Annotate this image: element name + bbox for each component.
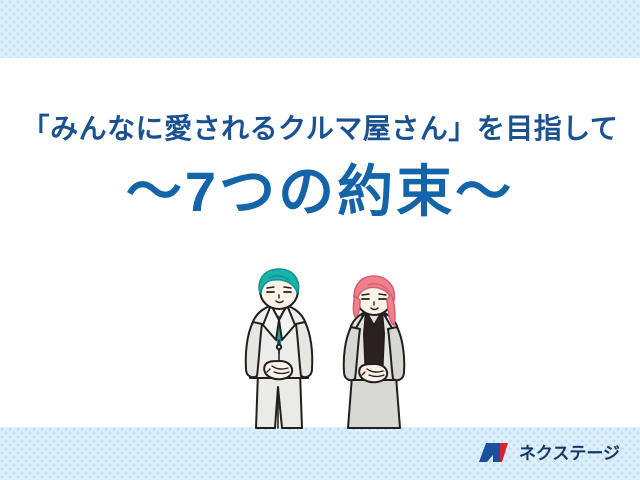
headline-primary: 「みんなに愛されるクルマ屋さん」を目指して [0, 112, 640, 146]
nextage-wordmark: ネクステージ [519, 445, 620, 462]
nextage-n-mark [478, 441, 512, 465]
bowing-staff-illustration [236, 268, 426, 430]
promo-banner: 「みんなに愛されるクルマ屋さん」を目指して ～7つの約束～ [0, 0, 640, 480]
top-dotted-band [0, 0, 640, 58]
male-staff-figure [246, 269, 312, 428]
female-staff-figure [344, 276, 404, 428]
headline-block: 「みんなに愛されるクルマ屋さん」を目指して ～7つの約束～ [0, 112, 640, 224]
nextage-logo-lockup[interactable]: ネクステージ [478, 440, 620, 466]
headline-secondary: ～7つの約束～ [0, 160, 640, 224]
